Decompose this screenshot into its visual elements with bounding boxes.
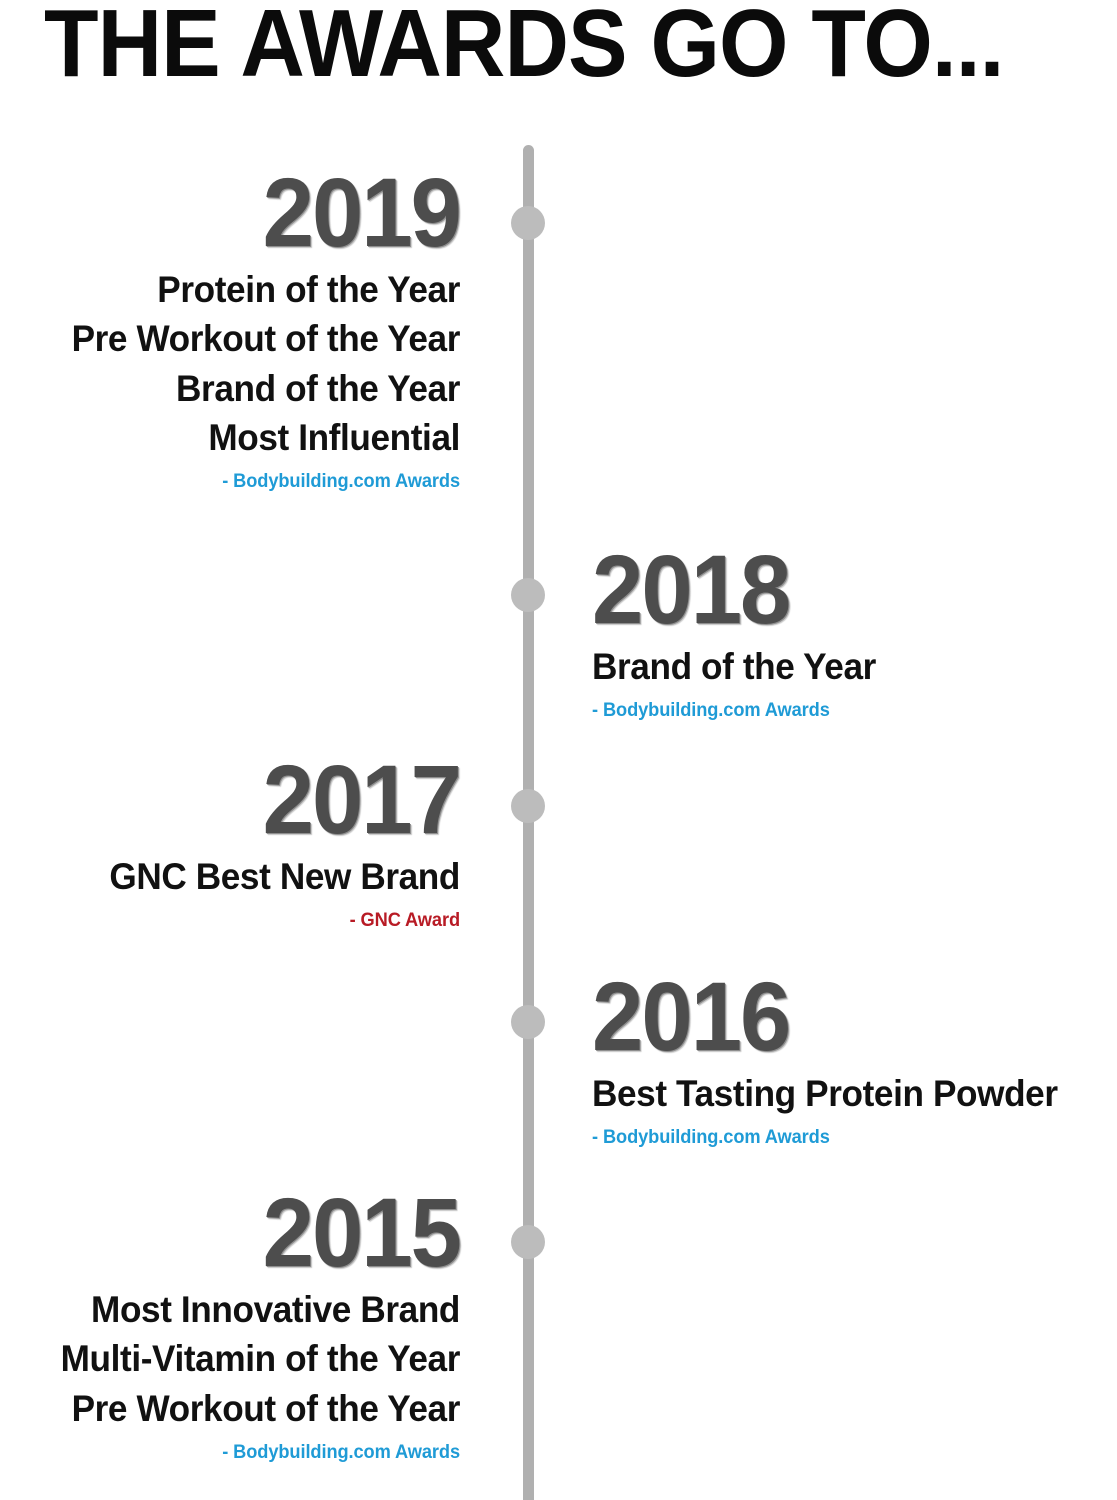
timeline-dot-2019	[511, 206, 545, 240]
award-list-2017: GNC Best New Brand	[0, 852, 460, 901]
award-item: Protein of the Year	[23, 265, 460, 314]
timeline-dot-2016	[511, 1005, 545, 1039]
award-item: Brand of the Year	[23, 364, 460, 413]
award-item: Pre Workout of the Year	[23, 314, 460, 363]
year-label-2018: 2018	[592, 545, 1029, 634]
award-item: Multi-Vitamin of the Year	[23, 1334, 460, 1383]
award-list-2018: Brand of the Year	[592, 642, 1052, 691]
timeline-entry-2015: 2015 Most Innovative Brand Multi-Vitamin…	[0, 1188, 460, 1464]
awards-timeline-poster: THE AWARDS GO TO... 2019 Protein of the …	[0, 0, 1117, 1500]
timeline-entry-2019: 2019 Protein of the Year Pre Workout of …	[0, 168, 460, 493]
year-label-2015: 2015	[23, 1188, 460, 1277]
page-title: THE AWARDS GO TO...	[44, 0, 1004, 95]
award-list-2016: Best Tasting Protein Powder	[592, 1069, 1117, 1118]
award-item: Pre Workout of the Year	[23, 1384, 460, 1433]
timeline-dot-2018	[511, 578, 545, 612]
year-label-2017: 2017	[23, 755, 460, 844]
year-label-2019: 2019	[23, 168, 460, 257]
award-item: Best Tasting Protein Powder	[592, 1069, 1091, 1118]
timeline-entry-2017: 2017 GNC Best New Brand - GNC Award	[0, 755, 460, 932]
attribution-2015: - Bodybuilding.com Awards	[18, 1442, 460, 1464]
attribution-2019: - Bodybuilding.com Awards	[18, 471, 460, 493]
award-item: GNC Best New Brand	[23, 852, 460, 901]
timeline-entry-2018: 2018 Brand of the Year - Bodybuilding.co…	[592, 545, 1052, 722]
attribution-2017: - GNC Award	[18, 910, 460, 932]
award-list-2015: Most Innovative Brand Multi-Vitamin of t…	[0, 1285, 460, 1433]
award-item: Most Innovative Brand	[23, 1285, 460, 1334]
attribution-2016: - Bodybuilding.com Awards	[592, 1127, 1096, 1149]
timeline-dot-2017	[511, 789, 545, 823]
award-list-2019: Protein of the Year Pre Workout of the Y…	[0, 265, 460, 462]
year-label-2016: 2016	[592, 972, 1091, 1061]
attribution-2018: - Bodybuilding.com Awards	[592, 700, 1034, 722]
timeline-entry-2016: 2016 Best Tasting Protein Powder - Bodyb…	[592, 972, 1117, 1149]
timeline-dot-2015	[511, 1225, 545, 1259]
award-item: Brand of the Year	[592, 642, 1029, 691]
award-item: Most Influential	[23, 413, 460, 462]
